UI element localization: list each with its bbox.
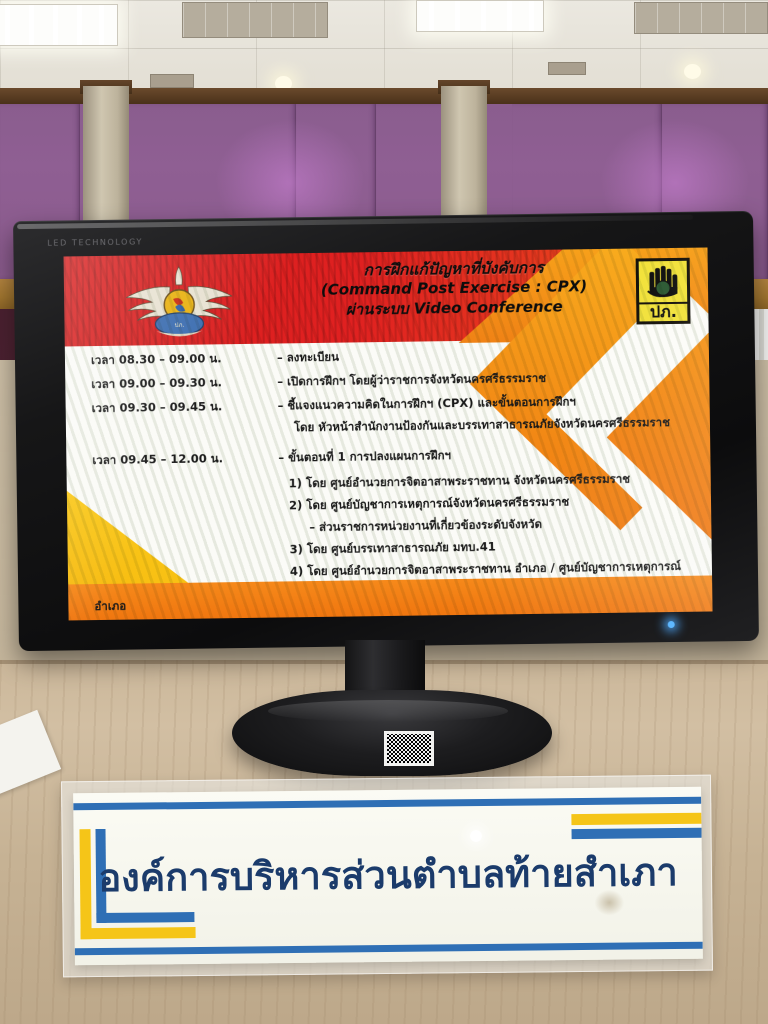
district-label: อำเภอ bbox=[68, 595, 280, 616]
schedule-time: เวลา 09.45 – 12.00 น. bbox=[66, 450, 278, 471]
qr-code-pattern bbox=[387, 734, 431, 763]
schedule-detail: – เปิดการฝึกฯ โดยผู้ว่าราชการจังหวัดนครศ… bbox=[277, 370, 546, 392]
fluorescent-light-fixture-1 bbox=[0, 4, 118, 46]
ceiling-air-vent-3 bbox=[150, 74, 194, 88]
plate-bottom-stripe bbox=[75, 942, 703, 956]
name-plate: องค์การบริหารส่วนตำบลท้ายสำเภา bbox=[73, 787, 703, 966]
plate-light-reflection bbox=[470, 830, 482, 842]
ppb-department-logo: ปภ. bbox=[636, 258, 691, 325]
numbered-item-text: 3) โดย ศูนย์บรรเทาสาธารณภัย มทบ.41 bbox=[280, 538, 496, 559]
ceiling-downlight-2 bbox=[684, 64, 701, 79]
meeting-room-photo: LED TECHNOLOGY bbox=[0, 0, 768, 1024]
led-technology-label: LED TECHNOLOGY bbox=[47, 237, 143, 247]
power-led-indicator bbox=[668, 621, 675, 628]
stand-base-highlight bbox=[268, 700, 508, 722]
presentation-slide: ปภ. การฝึกแก้ปัญหาที่บังคับการ (Command … bbox=[64, 247, 713, 620]
qr-code-sticker bbox=[384, 731, 434, 766]
schedule-detail: – ขั้นตอนที่ 1 การปลงแผนการฝึกฯ bbox=[278, 447, 451, 467]
logo-text: ปภ. bbox=[650, 304, 677, 321]
numbered-item: 4) โดย ศูนย์อำนวยการจิตอาสาพระราชทาน อำเ… bbox=[68, 557, 712, 584]
schedule-row: เวลา 09.45 – 12.00 น. – ขั้นตอนที่ 1 การ… bbox=[66, 443, 710, 470]
slide-title: การฝึกแก้ปัญหาที่บังคับการ (Command Post… bbox=[274, 257, 635, 321]
ceiling-air-vent-1 bbox=[182, 2, 328, 38]
monitor-screen: ปภ. การฝึกแก้ปัญหาที่บังคับการ (Command … bbox=[64, 247, 713, 620]
schedule-row-continuation: โดย หัวหน้าสำนักงานป้องกันและบรรเทาสาธาร… bbox=[66, 413, 710, 440]
acer-monitor: LED TECHNOLOGY bbox=[13, 211, 759, 651]
schedule-time: เวลา 09.00 – 09.30 น. bbox=[65, 374, 277, 395]
schedule-detail-secondary: โดย หัวหน้าสำนักงานป้องกันและบรรเทาสาธาร… bbox=[278, 414, 670, 437]
schedule-time: เวลา 09.30 – 09.45 น. bbox=[66, 398, 278, 419]
plate-corner-accent-top-right bbox=[571, 813, 701, 848]
open-hand-icon bbox=[643, 264, 684, 303]
numbered-item-text: 4) โดย ศูนย์อำนวยการจิตอาสาพระราชทาน อำเ… bbox=[280, 558, 681, 582]
schedule-row: เวลา 08.30 – 09.00 น. – ลงทะเบียน bbox=[65, 343, 709, 370]
fluorescent-light-fixture-2 bbox=[416, 0, 544, 32]
ceiling-air-vent-4 bbox=[548, 62, 586, 75]
schedule-detail: – ลงทะเบียน bbox=[277, 349, 339, 368]
slide-body: เวลา 08.30 – 09.00 น. – ลงทะเบียน เวลา 0… bbox=[65, 339, 713, 620]
plate-smudge bbox=[594, 890, 624, 916]
plate-top-stripe bbox=[73, 797, 701, 811]
svg-text:ปภ.: ปภ. bbox=[175, 322, 185, 329]
ceiling-air-vent-2 bbox=[634, 2, 768, 34]
schedule-detail: – ชี้แจงแนวความคิดในการฝึกฯ (CPX) และขั้… bbox=[278, 393, 576, 415]
numbered-item-text: 2) โดย ศูนย์บัญชาการเหตุการณ์จังหวัดนครศ… bbox=[279, 493, 569, 515]
numbered-subitem-text: – ส่วนราชการหน่วยงานที่เกี่ยวข้องระดับจั… bbox=[279, 516, 542, 538]
numbered-item-text: 1) โดย ศูนย์อำนวยการจิตอาสาพระราชทาน จัง… bbox=[279, 471, 631, 494]
schedule-row: เวลา 09.00 – 09.30 น. – เปิดการฝึกฯ โดยผ… bbox=[65, 367, 709, 394]
garuda-wings-emblem: ปภ. bbox=[120, 260, 239, 346]
schedule-time: เวลา 08.30 – 09.00 น. bbox=[65, 350, 277, 371]
